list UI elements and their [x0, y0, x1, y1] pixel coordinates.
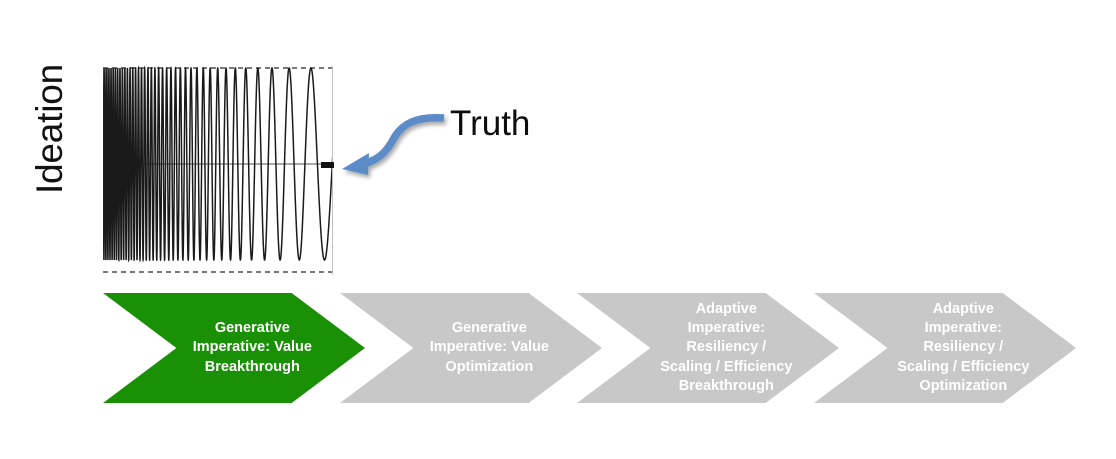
- ideation-chart: Ideation Truth: [0, 0, 560, 290]
- truth-arrow-icon: [338, 108, 448, 186]
- y-axis-label: Ideation: [29, 49, 71, 209]
- process-flow: Generative Imperative: Value Breakthroug…: [0, 293, 1116, 413]
- process-stage-label: Adaptive Imperative: Resiliency / Scalin…: [830, 300, 1061, 396]
- process-stage-label: Generative Imperative: Value Optimizatio…: [356, 319, 587, 376]
- plot-area: [103, 66, 333, 274]
- truth-annotation-label: Truth: [450, 104, 530, 144]
- process-stage-label: Generative Imperative: Value Breakthroug…: [119, 319, 350, 376]
- oscillation-plot: [103, 66, 333, 274]
- process-stage-adaptive-resiliency-optimization[interactable]: Adaptive Imperative: Resiliency / Scalin…: [814, 293, 1076, 403]
- process-stage-generative-value-breakthrough[interactable]: Generative Imperative: Value Breakthroug…: [103, 293, 365, 403]
- truth-tick-marker: [321, 162, 334, 168]
- process-stage-adaptive-resiliency-breakthrough[interactable]: Adaptive Imperative: Resiliency / Scalin…: [577, 293, 839, 403]
- plot-right-axis-rule: [332, 66, 333, 275]
- process-stage-label: Adaptive Imperative: Resiliency / Scalin…: [593, 300, 824, 396]
- process-stage-generative-value-optimization[interactable]: Generative Imperative: Value Optimizatio…: [340, 293, 602, 403]
